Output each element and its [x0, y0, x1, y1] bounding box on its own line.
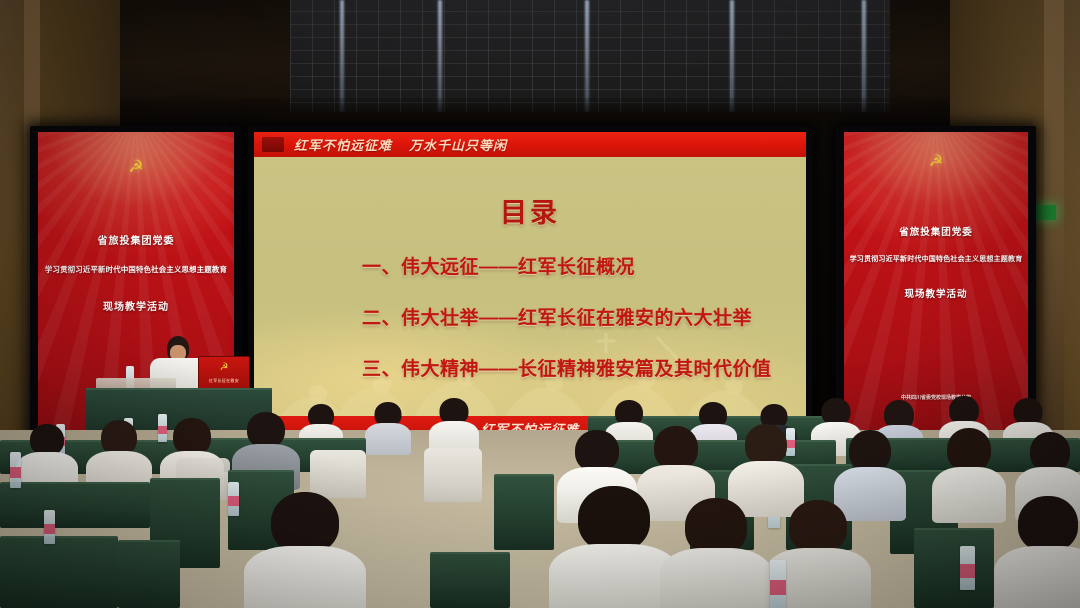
audience-desk: [914, 528, 994, 608]
audience-desk: [0, 536, 118, 608]
light-rays: [844, 132, 1028, 432]
party-emblem-icon: ☭: [128, 158, 143, 175]
right-screen-org-line: 省旅投集团党委: [844, 224, 1028, 238]
left-screen-activity-line: 现场教学活动: [38, 298, 234, 313]
seal-icon: [262, 137, 284, 152]
audience-person-front: [1000, 496, 1080, 608]
calligraphy-part-2: 万水千山只等闲: [409, 138, 507, 153]
party-emblem-icon: ☭: [929, 154, 943, 170]
slide-header-calligraphy: 红军不怕远征难 万水千山只等闲: [294, 135, 507, 154]
water-bottle: [44, 510, 55, 544]
left-screen-org-line: 省旅投集团党委: [38, 232, 234, 247]
audience-desk: [430, 552, 510, 608]
outline-item: 三、伟大精神——长征精神雅安篇及其时代价值: [362, 354, 806, 381]
water-bottle: [770, 560, 786, 608]
water-bottle: [10, 452, 21, 488]
left-screen-theme-line: 学习贯彻习近平新时代中国特色社会主义思想主题教育: [38, 264, 234, 275]
center-led-screen: 目录 一、伟大远征——红军长征概况 二、伟大壮举——红军长征在雅安的六大壮举 三…: [254, 132, 806, 442]
audience-chair: [424, 448, 482, 502]
slide-outline-list: 一、伟大远征——红军长征概况 二、伟大壮举——红军长征在雅安的六大壮举 三、伟大…: [254, 252, 806, 405]
audience-person-front: [250, 492, 360, 608]
conference-hall-scene: ☭ 省旅投集团党委 学习贯彻习近平新时代中国特色社会主义思想主题教育 现场教学活…: [0, 0, 1080, 608]
audience-person: [430, 398, 478, 450]
water-bottle: [228, 482, 239, 516]
audience-chair: [310, 450, 366, 498]
slide-title: 目录: [254, 191, 806, 230]
right-screen-bezel: ☭ 省旅投集团党委 学习贯彻习近平新时代中国特色社会主义思想主题教育 现场教学活…: [836, 126, 1036, 438]
right-screen-theme-line: 学习贯彻习近平新时代中国特色社会主义思想主题教育: [844, 254, 1028, 264]
audience-person: [934, 428, 1004, 514]
outline-item: 一、伟大远征——红军长征概况: [362, 252, 806, 279]
audience-desk: [118, 540, 180, 608]
slide-body: 目录 一、伟大远征——红军长征概况 二、伟大壮举——红军长征在雅安的六大壮举 三…: [254, 157, 806, 442]
calligraphy-part-1: 红军不怕远征难: [294, 138, 392, 153]
right-screen-activity-line: 现场教学活动: [844, 286, 1028, 300]
audience-person: [88, 420, 150, 488]
audience-person: [366, 402, 410, 450]
outline-item: 二、伟大壮举——红军长征在雅安的六大壮举: [362, 303, 806, 330]
slide-header-banner: 红军不怕远征难 万水千山只等闲: [254, 132, 806, 157]
podium-laptop-screen: ☭ 红军长征在雅安: [198, 356, 250, 392]
audience-person-front: [556, 486, 672, 608]
right-screen-sub-line: 中共四川省委党校现场教学分校: [844, 394, 1028, 401]
exit-sign-icon: [1034, 205, 1056, 220]
right-led-screen: ☭ 省旅投集团党委 学习贯彻习近平新时代中国特色社会主义思想主题教育 现场教学活…: [844, 132, 1028, 432]
water-bottle: [960, 546, 975, 590]
audience-desk: [494, 474, 554, 550]
audience-person-front: [666, 498, 766, 608]
audience-desk: [0, 482, 150, 528]
laptop-caption: 红军长征在雅安: [199, 378, 249, 384]
audience-person: [18, 424, 76, 488]
party-emblem-icon: ☭: [220, 363, 229, 373]
